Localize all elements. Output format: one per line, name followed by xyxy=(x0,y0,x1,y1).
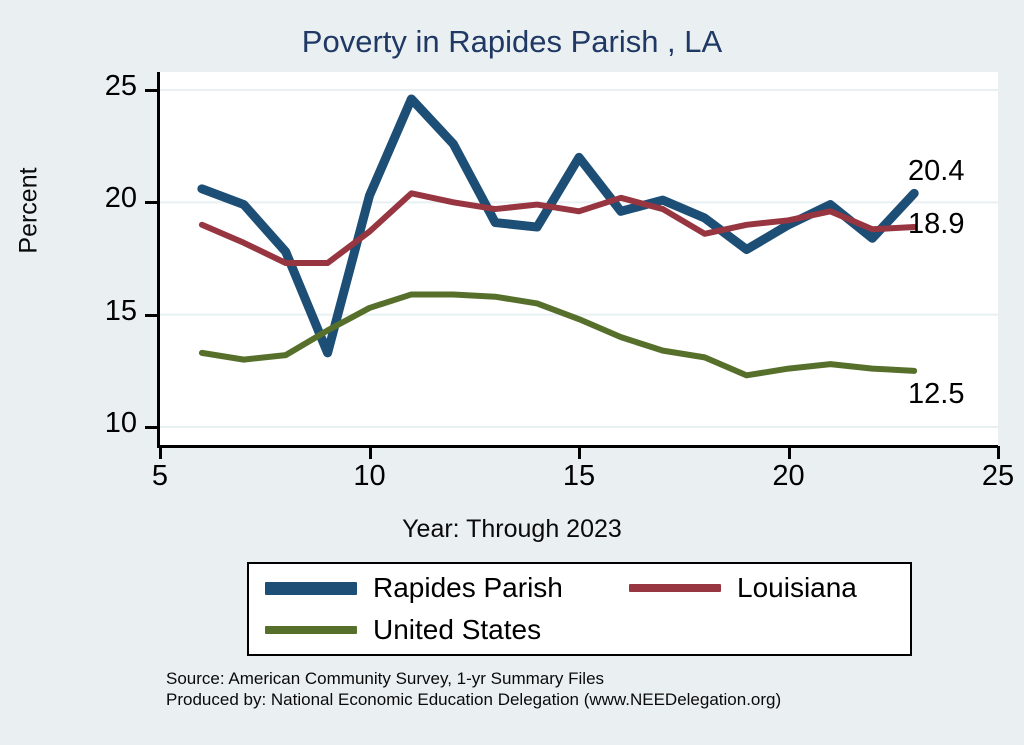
x-tick-label: 10 xyxy=(310,460,430,493)
legend-item-united-states[interactable]: United States xyxy=(265,614,541,646)
x-tick-label: 15 xyxy=(519,460,639,493)
x-tick-mark xyxy=(578,446,581,459)
y-tick-mark xyxy=(145,201,158,204)
y-tick-label: 20 xyxy=(17,182,137,215)
y-tick-mark xyxy=(145,89,158,92)
y-tick-label: 25 xyxy=(17,70,137,103)
legend: Rapides ParishLouisianaUnited States xyxy=(247,562,912,656)
legend-label: Louisiana xyxy=(737,572,857,604)
end-label-rapides: 20.4 xyxy=(908,155,964,188)
x-tick-mark xyxy=(159,446,162,459)
end-label-louisiana: 18.9 xyxy=(908,208,964,241)
chart-canvas xyxy=(160,72,998,445)
x-tick-mark xyxy=(369,446,372,459)
legend-item-louisiana[interactable]: Louisiana xyxy=(629,572,857,604)
x-tick-label: 20 xyxy=(729,460,849,493)
y-tick-mark xyxy=(145,314,158,317)
legend-label: Rapides Parish xyxy=(373,572,563,604)
series-endpoint-united-states xyxy=(911,368,916,373)
y-tick-label: 10 xyxy=(17,407,137,440)
chart-page: Poverty in Rapides Parish , LA Percent 1… xyxy=(0,0,1024,745)
footer-producer: Produced by: National Economic Education… xyxy=(166,689,781,710)
legend-label: United States xyxy=(373,614,541,646)
page-title: Poverty in Rapides Parish , LA xyxy=(0,24,1024,60)
x-tick-mark xyxy=(997,446,1000,459)
x-axis-title: Year: Through 2023 xyxy=(0,515,1024,544)
legend-item-rapides-parish[interactable]: Rapides Parish xyxy=(265,572,563,604)
end-label-united-states: 12.5 xyxy=(908,378,964,411)
plot-area xyxy=(160,72,998,445)
x-tick-label: 25 xyxy=(938,460,1024,493)
y-tick-mark xyxy=(145,426,158,429)
x-tick-label: 5 xyxy=(100,460,220,493)
legend-swatch-icon xyxy=(629,584,721,592)
legend-swatch-icon xyxy=(265,582,357,595)
y-axis-line xyxy=(157,72,160,448)
footer-note: Source: American Community Survey, 1-yr … xyxy=(166,668,781,710)
series-endpoint-rapides-parish xyxy=(910,189,918,197)
x-tick-mark xyxy=(788,446,791,459)
y-tick-label: 15 xyxy=(17,295,137,328)
footer-source: Source: American Community Survey, 1-yr … xyxy=(166,668,781,689)
series-lines xyxy=(202,99,918,375)
legend-swatch-icon xyxy=(265,626,357,634)
series-line-louisiana xyxy=(202,193,914,263)
